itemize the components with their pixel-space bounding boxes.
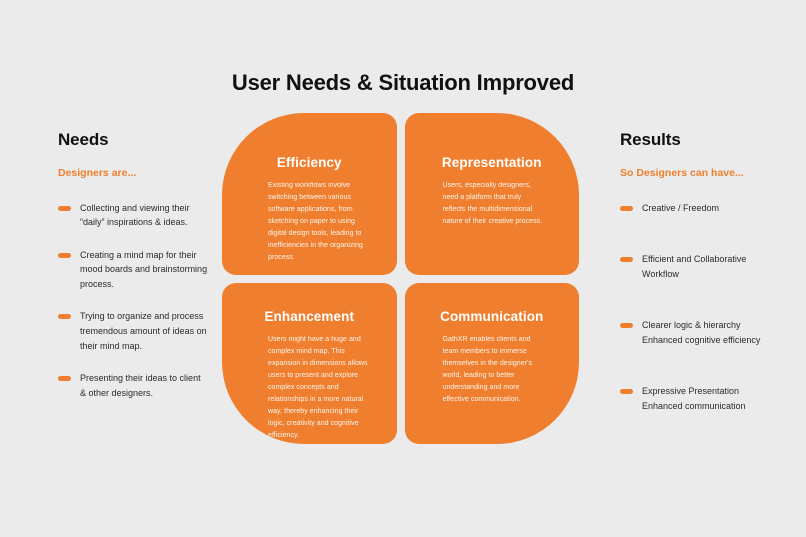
list-item-label: Clearer logic & hierarchy Enhanced cogni… [642,318,806,347]
list-item: Creative / Freedom [620,201,806,216]
list-item-label: Expressive Presentation Enhanced communi… [642,384,806,413]
bullet-pill-icon [58,253,71,258]
petal-grid: Efficiency Existing workflows involve sw… [222,113,579,444]
petal-title: Enhancement [246,283,373,324]
results-list: Creative / Freedom Efficient and Collabo… [620,201,806,414]
petal-title: Representation [429,113,556,170]
results-subheading: So Designers can have... [620,168,806,179]
list-item: Expressive Presentation Enhanced communi… [620,384,806,413]
petal-body: Existing workflows involve switching bet… [246,180,373,264]
petal-title: Efficiency [246,113,373,170]
list-item-label: Efficient and Collaborative Workflow [642,252,806,281]
petal-card-enhancement: Enhancement Users might have a huge and … [222,283,397,445]
petal-body: Users might have a huge and complex mind… [246,334,373,442]
results-column: Results So Designers can have... Creativ… [620,131,806,414]
bullet-pill-icon [58,376,71,381]
petal-card-representation: Representation Users, especially designe… [405,113,580,275]
list-item: Efficient and Collaborative Workflow [620,252,806,281]
petal-body: Users, especially designers, need a plat… [429,180,556,228]
list-item: Clearer logic & hierarchy Enhanced cogni… [620,318,806,347]
bullet-pill-icon [58,314,71,319]
bullet-pill-icon [620,323,633,328]
bullet-pill-icon [58,206,71,211]
bullet-pill-icon [620,389,633,394]
results-heading: Results [620,131,806,148]
list-item-label: Creative / Freedom [642,201,806,216]
bullet-pill-icon [620,206,633,211]
petal-body: GathXR enables clients and team members … [429,334,556,406]
bullet-pill-icon [620,257,633,262]
petal-card-efficiency: Efficiency Existing workflows involve sw… [222,113,397,275]
page-title: User Needs & Situation Improved [0,70,806,96]
petal-card-communication: Communication GathXR enables clients and… [405,283,580,445]
petal-title: Communication [429,283,556,324]
